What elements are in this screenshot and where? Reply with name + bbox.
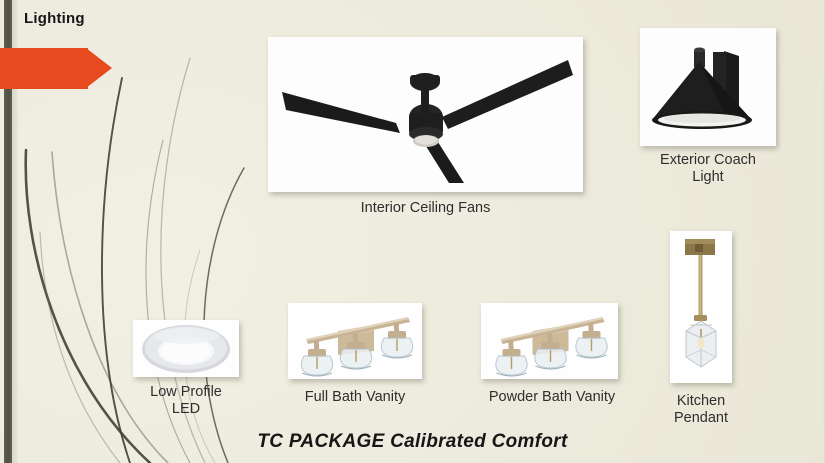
orange-arrow (0, 48, 112, 89)
footer-title: TC PACKAGE Calibrated Comfort (0, 431, 825, 453)
full-bath-vanity-image-card[interactable] (288, 303, 422, 379)
coach-light-caption: Exterior Coach Light (632, 152, 784, 186)
led-disc-image-card[interactable] (133, 320, 239, 377)
slide-canvas: Lighting Interior Ceiling Fans (0, 0, 825, 463)
led-disc-caption: Low Profile LED (118, 384, 254, 418)
full-bath-vanity-caption: Full Bath Vanity (273, 389, 437, 406)
kitchen-pendant-caption: Kitchen Pendant (645, 393, 757, 427)
coach-light-caption-line-1: Exterior Coach (632, 152, 784, 169)
powder-bath-vanity-image-card[interactable] (481, 303, 618, 379)
vanity-light-icon (481, 303, 618, 379)
kitchen-pendant-image-card[interactable] (670, 231, 732, 383)
powder-bath-vanity-caption: Powder Bath Vanity (463, 389, 641, 406)
coach-light-caption-line-2: Light (632, 169, 784, 186)
vanity-light-icon (288, 303, 422, 379)
ceiling-fan-icon (268, 37, 583, 192)
coach-light-icon (640, 28, 776, 146)
arrow-head (86, 48, 112, 88)
kitchen-pendant-caption-line-1: Kitchen (645, 393, 757, 410)
led-disc-icon (133, 320, 239, 377)
kitchen-pendant-caption-line-2: Pendant (645, 410, 757, 427)
pendant-light-icon (670, 231, 732, 383)
coach-light-image-card[interactable] (640, 28, 776, 146)
ceiling-fan-caption: Interior Ceiling Fans (268, 200, 583, 217)
led-disc-caption-line-2: LED (118, 401, 254, 418)
led-disc-caption-line-1: Low Profile (118, 384, 254, 401)
arrow-body (0, 48, 88, 89)
page-title: Lighting (24, 10, 85, 27)
ceiling-fan-image-card[interactable] (268, 37, 583, 192)
